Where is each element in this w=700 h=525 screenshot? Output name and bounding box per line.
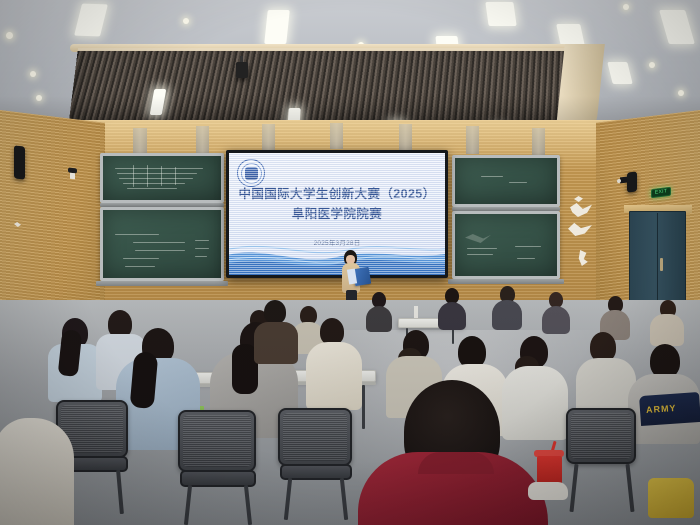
- army-jacket-text: ARMY: [646, 403, 677, 415]
- chair[interactable]: [178, 410, 256, 472]
- chair-mesh-back: [283, 413, 347, 461]
- right-chalkboard-lower: [452, 211, 560, 279]
- audience-body: [306, 342, 362, 410]
- chair[interactable]: [278, 408, 352, 466]
- right-chalkboard-upper: [452, 155, 560, 207]
- foreground-hoodie-collar: [418, 452, 494, 474]
- ceiling-downlight: [623, 4, 629, 10]
- audience-body: [366, 306, 392, 332]
- desk-lamp: [414, 306, 418, 318]
- ceiling-downlight: [183, 18, 189, 24]
- wall-camera-left-body: [70, 173, 75, 180]
- left-chalkboard-lower: [100, 207, 224, 281]
- wall-camera-right: [620, 177, 627, 184]
- chair-mesh-back: [183, 415, 251, 467]
- door-handle[interactable]: [660, 258, 663, 271]
- left-chalkboard-tray: [96, 281, 228, 286]
- lecture-hall-photo: EXIT: [0, 0, 700, 525]
- tissue: [528, 482, 568, 500]
- chair[interactable]: [566, 408, 636, 464]
- slide-title-line1: 中国国际大学生创新大赛（2025）: [229, 186, 445, 203]
- ceiling-panel-light: [264, 10, 290, 44]
- left-chalkboard-upper: [100, 153, 224, 203]
- audience-body: [438, 302, 466, 330]
- audience-head: [264, 300, 286, 324]
- audience-body: [650, 314, 684, 346]
- ceiling-downlight: [30, 71, 36, 77]
- audience-head: [320, 318, 344, 345]
- wall-speaker-left: [14, 145, 25, 179]
- ceiling-projector: [236, 62, 248, 78]
- right-chalkboard-tray: [448, 279, 564, 284]
- table-leg: [452, 328, 454, 344]
- ceiling-downlight: [649, 62, 655, 68]
- audience-foreground-coat: [0, 418, 74, 525]
- audience-body: [542, 306, 570, 334]
- audience-head: [650, 344, 680, 378]
- chair-mesh-back: [571, 413, 631, 459]
- wall-speaker-right: [627, 171, 637, 192]
- table-leg: [362, 385, 365, 429]
- emblem-ring: [241, 163, 262, 184]
- audience-hair-ponytail: [130, 351, 159, 409]
- audience-body: [254, 322, 298, 364]
- exit-sign-label: EXIT: [655, 189, 667, 196]
- yellow-bag: [648, 478, 694, 518]
- door-center-seam: [657, 213, 658, 310]
- audience-body: [492, 300, 522, 330]
- ceiling-panel-light: [485, 2, 516, 26]
- audience-body: [502, 366, 568, 440]
- university-emblem-icon: [237, 159, 265, 187]
- ceiling-downlight: [6, 32, 13, 39]
